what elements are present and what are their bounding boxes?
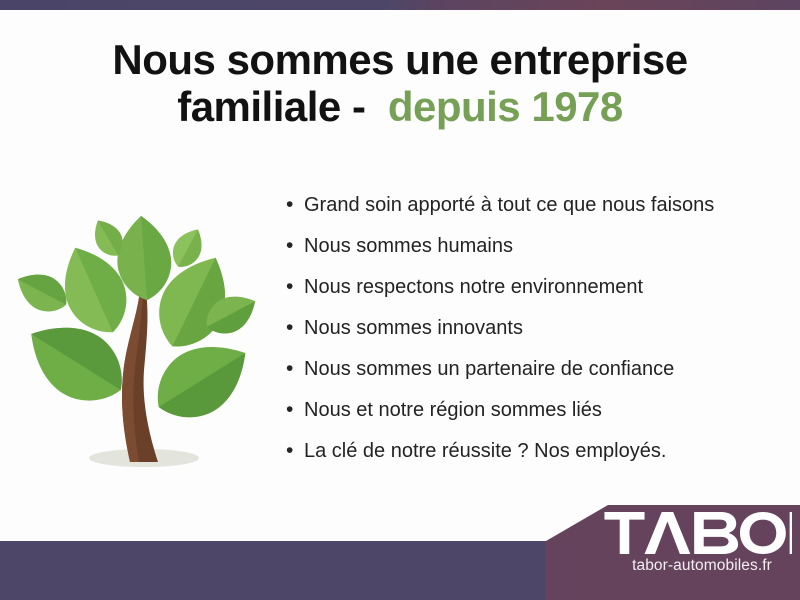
list-item-label: La clé de notre réussite ? Nos employés. (304, 438, 666, 464)
title-line-2-plain: familiale (177, 83, 341, 130)
tabor-wordmark-icon (604, 512, 792, 554)
title-separator: - (352, 83, 366, 130)
list-item: • Nous sommes innovants (286, 315, 786, 356)
list-item-label: Nous sommes un partenaire de confiance (304, 356, 674, 382)
tree-illustration-svg (16, 186, 266, 488)
list-item: • Nous sommes un partenaire de confiance (286, 356, 786, 397)
list-item-label: Nous sommes innovants (304, 315, 523, 341)
list-item-label: Nous et notre région sommes liés (304, 397, 602, 423)
title-accent-depuis: depuis 1978 (388, 83, 623, 130)
title-line-1-text: Nous sommes une entreprise (112, 36, 687, 83)
top-accent-bar (0, 0, 800, 10)
tree-illustration (16, 186, 266, 488)
list-item: • Nous et notre région sommes liés (286, 397, 786, 438)
bullet-marker-icon: • (286, 356, 304, 382)
value-bullet-list: • Grand soin apporté à tout ce que nous … (286, 192, 786, 479)
tree-trunk (122, 290, 158, 462)
title-line-1: Nous sommes une entreprise (0, 36, 800, 83)
title-line-2: familiale - depuis 1978 (0, 83, 800, 130)
list-item-label: Nous sommes humains (304, 233, 513, 259)
list-item: • Nous sommes humains (286, 233, 786, 274)
leaf-lower-right (142, 325, 263, 434)
list-item: • Nous respectons notre environnement (286, 274, 786, 315)
page-title: Nous sommes une entreprise familiale - d… (0, 36, 800, 130)
bullet-marker-icon: • (286, 315, 304, 341)
list-item-label: Nous respectons notre environnement (304, 274, 643, 300)
list-item-label: Grand soin apporté à tout ce que nous fa… (304, 192, 714, 218)
bullet-marker-icon: • (286, 233, 304, 259)
list-item: • La clé de notre réussite ? Nos employé… (286, 438, 786, 479)
brand-logo[interactable]: tabor-automobiles.fr (604, 512, 800, 575)
bullet-marker-icon: • (286, 397, 304, 423)
list-item: • Grand soin apporté à tout ce que nous … (286, 192, 786, 233)
bullet-marker-icon: • (286, 274, 304, 300)
brand-url[interactable]: tabor-automobiles.fr (604, 557, 800, 575)
bullet-marker-icon: • (286, 438, 304, 464)
slide-canvas: Nous sommes une entreprise familiale - d… (0, 0, 800, 600)
bullet-marker-icon: • (286, 192, 304, 218)
